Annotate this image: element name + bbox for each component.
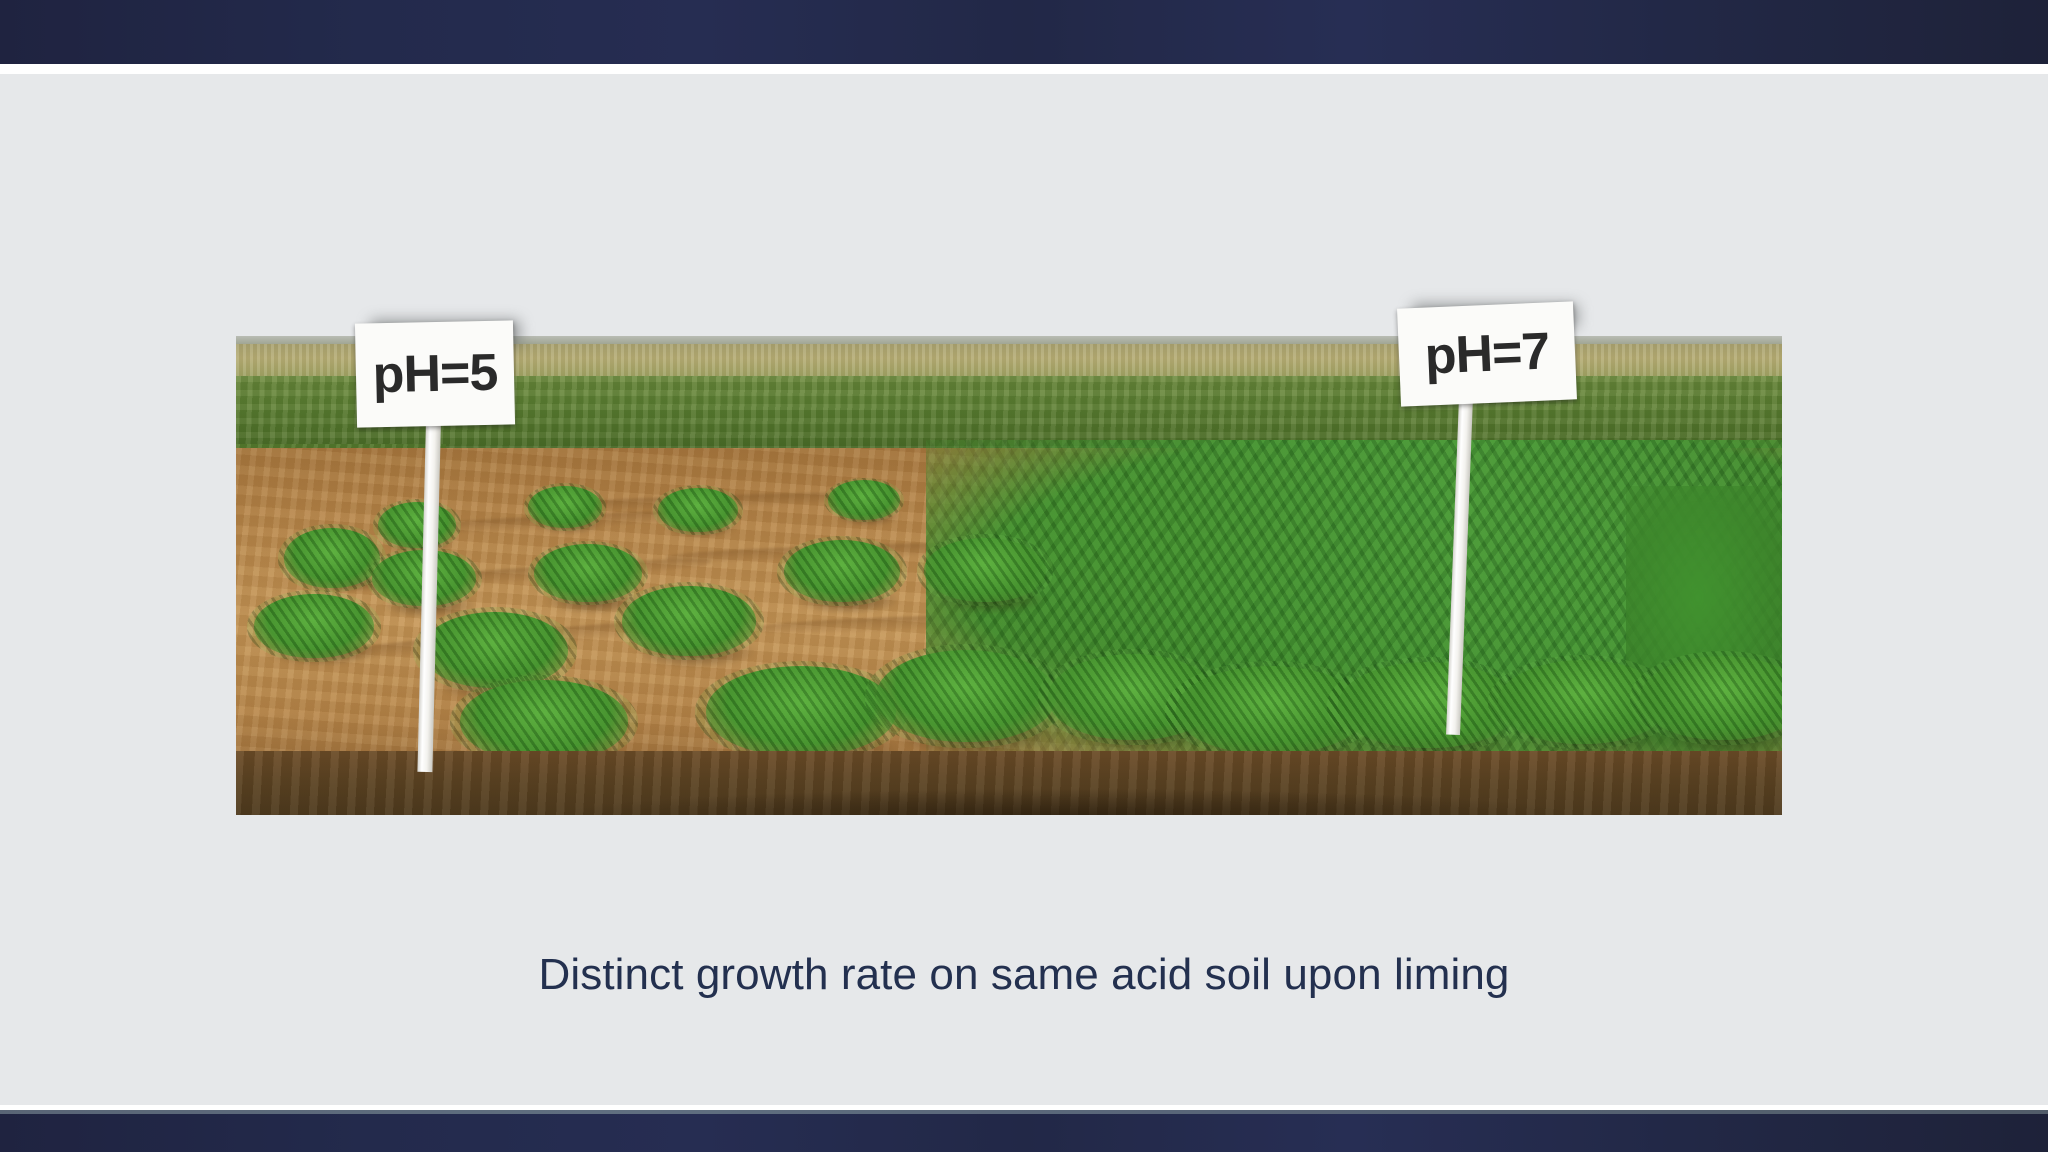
seedling — [528, 486, 602, 528]
foreground-path-shadow — [566, 789, 1566, 815]
slide-content-panel: pH=5 pH=7 Distinct growth rate on same a… — [0, 74, 2048, 1105]
seedling — [460, 680, 628, 762]
seedling — [658, 488, 738, 532]
seedling — [534, 544, 642, 602]
top-decor-band — [0, 0, 2048, 64]
seedling — [924, 538, 1046, 602]
bottom-decor-band — [0, 1114, 2048, 1152]
seedling — [784, 540, 900, 602]
sign-board-label: pH=7 — [1397, 301, 1577, 406]
slide: pH=5 pH=7 Distinct growth rate on same a… — [0, 0, 2048, 1152]
seedling — [378, 502, 456, 548]
seedling — [254, 594, 374, 658]
seedling — [876, 650, 1056, 742]
seedling — [622, 586, 756, 656]
sign-board-label: pH=5 — [355, 320, 515, 427]
seedling — [828, 480, 900, 520]
seedling — [1640, 656, 1782, 740]
slide-caption: Distinct growth rate on same acid soil u… — [0, 950, 2048, 1000]
